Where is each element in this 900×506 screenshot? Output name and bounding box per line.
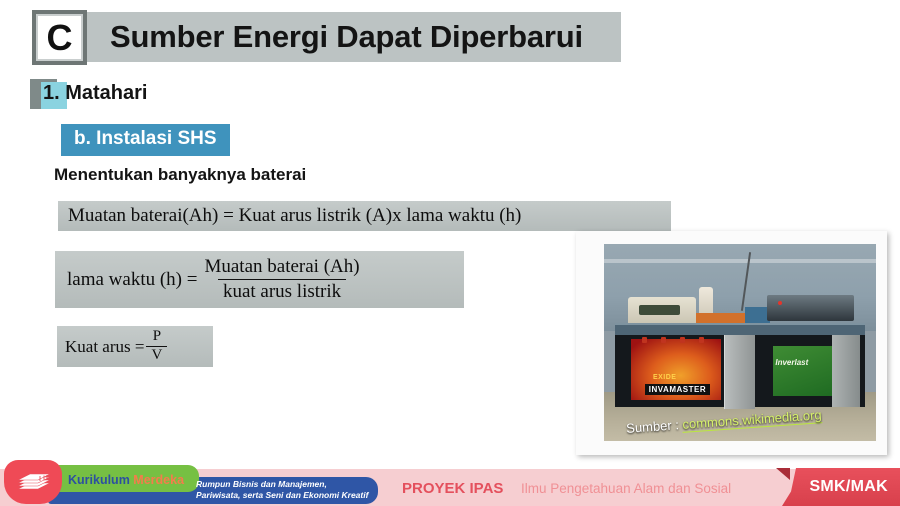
- page-title: Sumber Energi Dapat Diperbarui: [110, 14, 583, 60]
- formula-current-numerator: P: [148, 329, 166, 346]
- formula-current-fraction: P V: [146, 329, 167, 364]
- photo-battery-left-model: INVAMASTER: [645, 384, 710, 395]
- slide-canvas: C Sumber Energi Dapat Diperbarui 1. Mata…: [0, 0, 900, 506]
- subsection-caption: Menentukan banyaknya baterai: [54, 165, 306, 185]
- photo-battery-left-brand: EXIDE: [653, 374, 677, 381]
- photo-panel-right: [832, 335, 859, 408]
- formula-duration-lhs: lama waktu (h) =: [67, 269, 197, 291]
- rumpun-line-1: Rumpun Bisnis dan Manajemen,: [196, 479, 368, 490]
- kurikulum-merdeka-label: Kurikulum Merdeka: [68, 473, 184, 487]
- formula-current-lhs: Kuat arus =: [65, 337, 144, 357]
- photo-terminal-3: [680, 337, 685, 343]
- photo-terminal-2: [661, 337, 666, 343]
- formula-duration-box: lama waktu (h) = Muatan baterai (Ah) kua…: [55, 251, 464, 308]
- footer-bar: Kurikulum Merdeka Rumpun Bisnis dan Mana…: [0, 460, 900, 506]
- books-icon: [16, 472, 52, 494]
- photo-frame: EXIDE INVAMASTER Inverlast Sumber : comm…: [576, 231, 887, 455]
- formula-current-denominator: V: [146, 346, 167, 364]
- photo-terminal-1: [642, 337, 647, 343]
- kurikulum-word: Kurikulum: [68, 473, 130, 487]
- photo-wall-strip: [604, 259, 876, 263]
- section-letter-text: C: [36, 14, 83, 61]
- formula-duration-denominator: kuat arus listrik: [218, 279, 346, 303]
- photo-terminal-4: [699, 337, 704, 343]
- formula-duration-fraction: Muatan baterai (Ah) kuat arus listrik: [199, 256, 364, 303]
- curriculum-logo: [4, 460, 62, 504]
- rumpun-label: Rumpun Bisnis dan Manajemen, Pariwisata,…: [196, 479, 368, 501]
- merdeka-word: Merdeka: [133, 473, 184, 487]
- proyek-ipas-label: PROYEK IPAS: [402, 480, 503, 497]
- section-number-label: 1. Matahari: [43, 81, 147, 105]
- photo-panel-middle: [724, 335, 755, 410]
- photo-image: EXIDE INVAMASTER Inverlast Sumber : comm…: [604, 244, 876, 441]
- formula-current-box: Kuat arus = P V: [57, 326, 213, 367]
- rumpun-line-2: Pariwisata, serta Seni dan Ekonomi Kreat…: [196, 490, 368, 501]
- photo-battery-green: [773, 346, 833, 395]
- formula-duration-numerator: Muatan baterai (Ah): [199, 256, 364, 279]
- smk-mak-label: SMK/MAK: [809, 478, 888, 496]
- formula-charge-text: Muatan baterai(Ah) = Kuat arus listrik (…: [68, 205, 521, 227]
- proyek-ipas-subtitle: Ilmu Pengetahuan Alam dan Sosial: [521, 481, 731, 496]
- photo-inverter-left-screen: [639, 305, 680, 315]
- subsection-badge: b. Instalasi SHS: [61, 124, 230, 156]
- photo-battery-right-brand: Inverlast: [775, 358, 808, 367]
- section-letter-badge: C: [32, 10, 87, 65]
- formula-charge-box: Muatan baterai(Ah) = Kuat arus listrik (…: [58, 201, 671, 231]
- photo-inverter-right: [767, 295, 854, 321]
